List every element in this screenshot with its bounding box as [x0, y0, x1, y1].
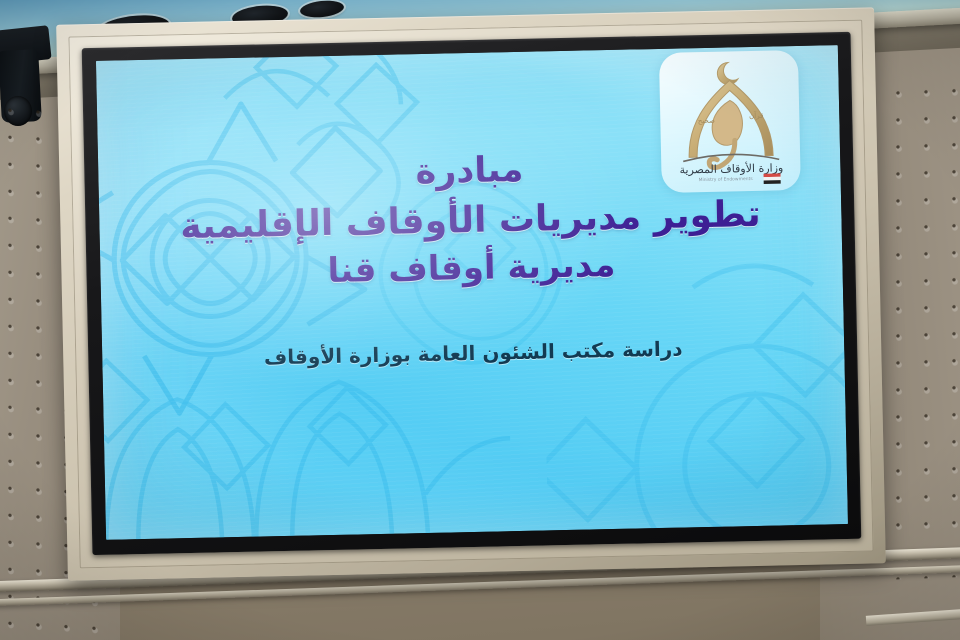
slide-subtitle: دراسة مكتب الشئون العامة بوزارة الأوقاف — [102, 333, 844, 373]
screen-bezel: صحيح قرآن وزارة الأوقاف المصرية Ministry… — [82, 32, 862, 555]
svg-text:قرآن: قرآن — [749, 111, 763, 120]
room-scene: صحيح قرآن وزارة الأوقاف المصرية Ministry… — [0, 0, 960, 640]
slide-title-block: مبادرة تطوير مديريات الأوقاف الإقليمية م… — [98, 141, 843, 298]
svg-text:صحيح: صحيح — [697, 117, 714, 125]
screen-outer-frame: صحيح قرآن وزارة الأوقاف المصرية Ministry… — [56, 7, 886, 580]
slide-content: صحيح قرآن وزارة الأوقاف المصرية Ministry… — [96, 45, 848, 540]
speaker-driver-icon — [4, 96, 32, 126]
projection-screen[interactable]: صحيح قرآن وزارة الأوقاف المصرية Ministry… — [96, 45, 848, 540]
